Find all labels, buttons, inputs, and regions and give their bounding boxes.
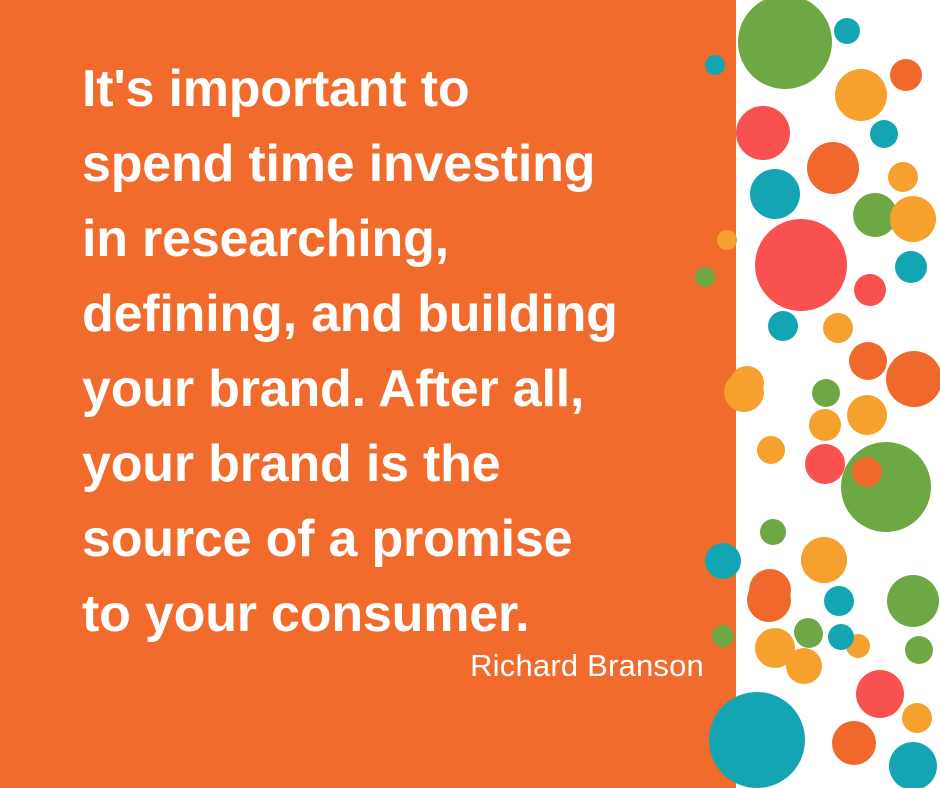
dots-panel <box>736 0 940 788</box>
decorative-dot <box>846 634 870 658</box>
decorative-dot <box>900 209 926 235</box>
decorative-dot <box>902 703 932 733</box>
quote-card: It's important to spend time investing i… <box>0 0 940 788</box>
decorative-dot <box>854 274 886 306</box>
decorative-dot <box>870 120 898 148</box>
decorative-dot <box>809 409 841 441</box>
decorative-dot <box>890 196 936 242</box>
decorative-dot <box>886 351 940 407</box>
decorative-dot <box>736 106 790 160</box>
decorative-dot <box>768 311 798 341</box>
decorative-dot <box>805 444 845 484</box>
decorative-dot <box>801 537 847 583</box>
decorative-dot <box>749 569 791 611</box>
decorative-dot <box>895 251 927 283</box>
decorative-dot <box>841 442 931 532</box>
decorative-dot <box>755 219 847 311</box>
decorative-dot <box>738 0 832 89</box>
decorative-dot <box>852 457 882 487</box>
decorative-dot <box>889 742 937 788</box>
decorative-dot <box>905 636 933 664</box>
decorative-dot <box>812 379 840 407</box>
decorative-dot <box>786 648 822 684</box>
decorative-dot <box>794 618 822 646</box>
decorative-dot <box>834 18 860 44</box>
decorative-dot <box>828 624 854 650</box>
decorative-dot <box>832 721 876 765</box>
quote-author: Richard Branson <box>82 648 704 684</box>
decorative-dot <box>853 193 897 237</box>
decorative-dot <box>747 578 791 622</box>
decorative-dot <box>755 628 795 668</box>
quote-text: It's important to spend time investing i… <box>82 52 722 652</box>
decorative-dot <box>807 142 859 194</box>
decorative-dot <box>823 313 853 343</box>
decorative-dot <box>835 69 887 121</box>
decorative-dot <box>750 169 800 219</box>
decorative-dot <box>760 519 786 545</box>
decorative-dot <box>887 575 939 627</box>
decorative-dot <box>847 395 887 435</box>
decorative-dot <box>856 670 904 718</box>
decorative-dot <box>890 59 922 91</box>
decorative-dot <box>757 436 785 464</box>
decorative-dot <box>888 162 918 192</box>
decorative-dot <box>849 342 887 380</box>
decorative-dot <box>824 586 854 616</box>
decorative-dot <box>795 620 823 648</box>
